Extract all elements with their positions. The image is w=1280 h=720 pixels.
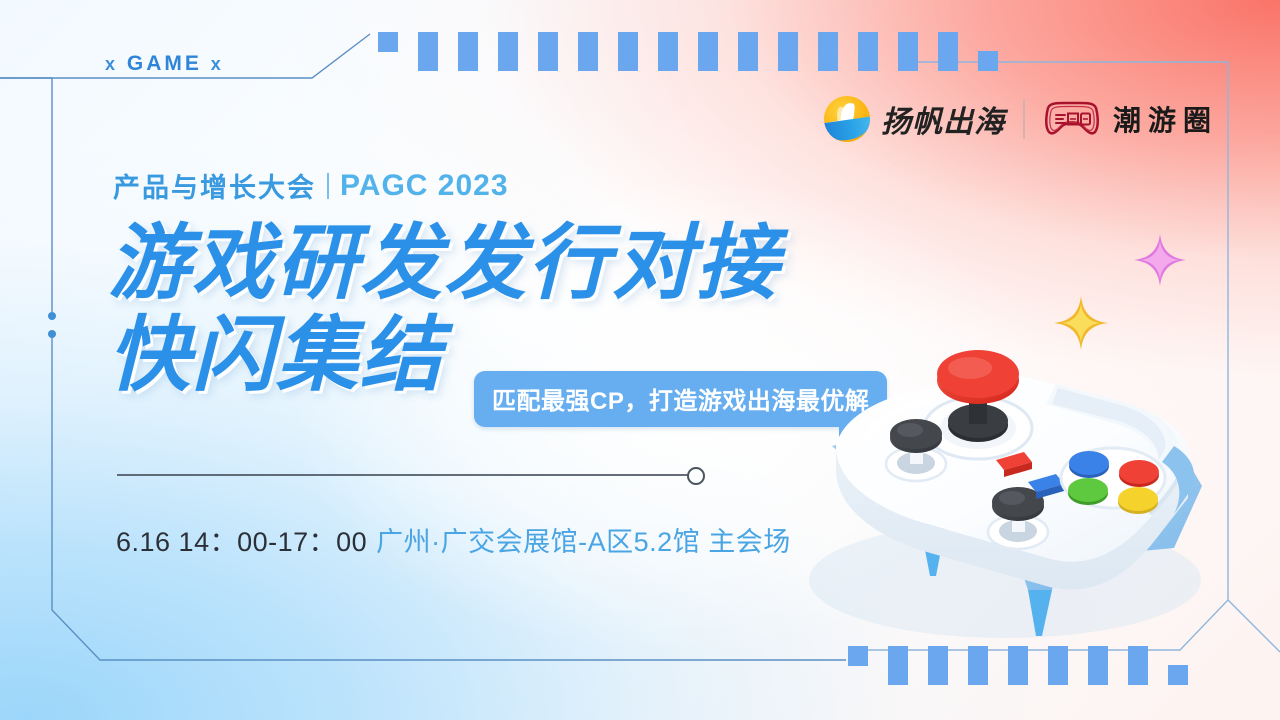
checker-cell [1028, 665, 1048, 685]
brand-logo-bar: 扬帆出海 潮游圈 [824, 96, 1218, 142]
checker-cell [1108, 665, 1128, 685]
checker-cell [958, 32, 978, 52]
event-date-time: 6.16 14：00-17：00 [116, 520, 367, 559]
checker-cell [478, 32, 498, 52]
checker-cell [988, 665, 1008, 685]
checker-cell [1168, 665, 1188, 685]
brand-secondary-name: 潮游圈 [1113, 99, 1218, 139]
brand-divider [1023, 99, 1025, 139]
checker-cell [928, 665, 948, 685]
event-subtitle-divider [327, 173, 329, 199]
sail-boat-logo-icon [824, 96, 870, 142]
checker-cell [898, 51, 918, 71]
checker-cell [578, 51, 598, 71]
checker-cell [918, 32, 938, 52]
checker-cell [658, 51, 678, 71]
checker-cell [518, 51, 538, 71]
checker-cell [438, 32, 458, 52]
checker-cell [498, 51, 518, 71]
gamepad-logo-icon [1043, 101, 1101, 137]
divider-end-dot-icon [687, 467, 705, 485]
checker-cell [818, 51, 838, 71]
checker-cell [938, 51, 958, 71]
checker-cell [1088, 665, 1108, 685]
checker-cell [1148, 665, 1168, 685]
sparkle-icon-pink [1132, 232, 1188, 288]
checker-cell [718, 51, 738, 71]
checker-cell [1068, 665, 1088, 685]
checker-cell [798, 32, 818, 52]
checker-cell [418, 32, 438, 52]
headline-line-1: 游戏研发发行对接 [108, 224, 780, 304]
checker-cell [658, 32, 678, 52]
event-subtitle-cn: 产品与增长大会 [113, 166, 316, 205]
checker-cell [398, 32, 418, 52]
checker-cell [968, 665, 988, 685]
event-venue: 广州·广交会展馆-A区5.2馆 主会场 [376, 520, 791, 559]
checker-cell [858, 51, 878, 71]
checker-cell [418, 51, 438, 71]
checker-cell [878, 51, 898, 71]
event-subtitle: 产品与增长大会 PAGC 2023 [113, 166, 509, 205]
date-venue-line: 6.16 14：00-17：00 广州·广交会展馆-A区5.2馆 主会场 [116, 520, 791, 559]
checker-cell [438, 51, 458, 71]
checker-cell [558, 51, 578, 71]
brand-primary-name: 扬帆出海 [881, 97, 1005, 141]
game-tag-right-x: x [211, 54, 224, 74]
checker-cell [838, 32, 858, 52]
checker-cell [578, 32, 598, 52]
checker-cell [398, 51, 418, 71]
checker-cell [538, 32, 558, 52]
checker-cell [798, 51, 818, 71]
checker-cell [858, 32, 878, 52]
checker-cell [948, 665, 968, 685]
checker-cell [758, 32, 778, 52]
checker-cell [898, 32, 918, 52]
checker-cell [618, 51, 638, 71]
checker-cell [878, 32, 898, 52]
game-tag-left-x: x [105, 54, 118, 74]
game-controller-illustration [770, 318, 1240, 658]
checker-cell [958, 51, 978, 71]
checker-cell [738, 32, 758, 52]
brand-secondary[interactable]: 潮游圈 [1043, 99, 1218, 139]
corner-game-tag: x GAME x [105, 52, 224, 76]
checker-cell [938, 32, 958, 52]
checker-cell [598, 32, 618, 52]
checker-cell [378, 32, 398, 52]
checker-cell [738, 51, 758, 71]
checker-cell [638, 32, 658, 52]
checkerboard-top [378, 32, 998, 71]
checker-cell [888, 665, 908, 685]
checker-cell [518, 32, 538, 52]
checker-cell [778, 51, 798, 71]
checker-cell [458, 32, 478, 52]
checker-cell [978, 51, 998, 71]
checker-cell [618, 32, 638, 52]
checker-cell [868, 665, 888, 685]
checker-cell [678, 32, 698, 52]
checker-cell [1008, 665, 1028, 685]
poster-canvas: x GAME x 扬帆出海 [0, 0, 1280, 720]
checker-cell [678, 51, 698, 71]
checker-cell [458, 51, 478, 71]
checker-cell [718, 32, 738, 52]
checker-cell [698, 32, 718, 52]
divider-rule [117, 474, 689, 476]
checker-cell [778, 32, 798, 52]
checker-cell [558, 32, 578, 52]
checker-cell [1048, 665, 1068, 685]
checker-cell [638, 51, 658, 71]
checker-cell [908, 665, 928, 685]
checker-cell [698, 51, 718, 71]
checker-cell [818, 32, 838, 52]
checker-cell [758, 51, 778, 71]
event-subtitle-en: PAGC 2023 [340, 169, 509, 203]
checker-cell [498, 32, 518, 52]
checker-cell [1128, 665, 1148, 685]
checker-cell [478, 51, 498, 71]
checker-cell [838, 51, 858, 71]
checker-cell [918, 51, 938, 71]
checker-cell [538, 51, 558, 71]
game-tag-label: GAME [127, 52, 202, 75]
checker-cell [598, 51, 618, 71]
brand-primary[interactable]: 扬帆出海 [824, 96, 1005, 142]
